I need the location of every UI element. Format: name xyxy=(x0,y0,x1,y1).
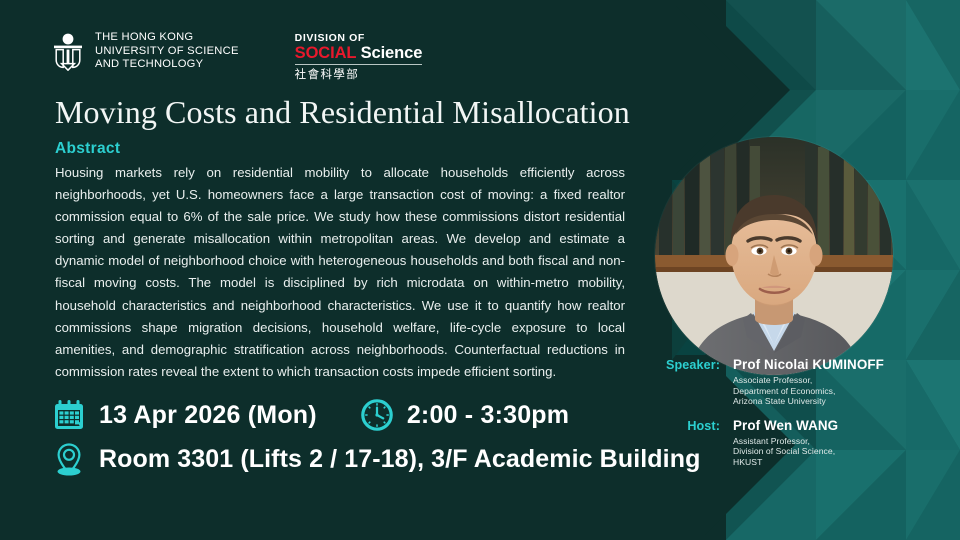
speaker-portrait-photo xyxy=(655,137,893,375)
division-social-word: SOCIAL xyxy=(295,44,356,62)
speaker-portrait xyxy=(655,137,893,375)
poster-header: THE HONG KONG UNIVERSITY OF SCIENCE AND … xyxy=(52,31,422,82)
host-info: Prof Wen WANG Assistant Professor, Divis… xyxy=(733,418,838,468)
host-affiliation: Assistant Professor, Division of Social … xyxy=(733,436,838,468)
division-science-word: Science xyxy=(356,44,422,62)
division-line1: DIVISION OF xyxy=(295,32,423,44)
location-pin-icon xyxy=(52,441,86,477)
date-item: 13 Apr 2026 (Mon) xyxy=(52,398,317,432)
host-entry: Host: Prof Wen WANG Assistant Professor,… xyxy=(648,418,948,468)
seminar-title: Moving Costs and Residential Misallocati… xyxy=(55,93,695,131)
speaker-affiliation: Associate Professor, Department of Econo… xyxy=(733,375,884,407)
hkust-shield-icon xyxy=(52,33,84,76)
hkust-logo: THE HONG KONG UNIVERSITY OF SCIENCE AND … xyxy=(52,31,239,76)
time-text: 2:00 - 3:30pm xyxy=(407,401,569,430)
division-line2: SOCIAL Science xyxy=(295,44,423,65)
host-name: Prof Wen WANG xyxy=(733,418,838,434)
venue-row: Room 3301 (Lifts 2 / 17-18), 3/F Academi… xyxy=(52,441,700,477)
speaker-name: Prof Nicolai KUMINOFF xyxy=(733,357,884,373)
time-item: 2:00 - 3:30pm xyxy=(360,398,569,432)
clock-icon xyxy=(360,398,394,432)
host-label: Host: xyxy=(648,418,720,433)
date-time-row: 13 Apr 2026 (Mon) xyxy=(52,398,569,432)
abstract-heading: Abstract xyxy=(55,140,120,158)
seminar-poster: THE HONG KONG UNIVERSITY OF SCIENCE AND … xyxy=(0,0,960,540)
speaker-info: Prof Nicolai KUMINOFF Associate Professo… xyxy=(733,357,884,407)
division-logo: DIVISION OF SOCIAL Science 社會科學部 xyxy=(295,31,423,82)
abstract-body: Housing markets rely on residential mobi… xyxy=(55,162,625,383)
speaker-entry: Speaker: Prof Nicolai KUMINOFF Associate… xyxy=(648,357,948,407)
venue-text: Room 3301 (Lifts 2 / 17-18), 3/F Academi… xyxy=(99,445,700,474)
division-chinese-name: 社會科學部 xyxy=(295,67,423,82)
hkust-logo-text: THE HONG KONG UNIVERSITY OF SCIENCE AND … xyxy=(95,31,239,72)
speaker-label: Speaker: xyxy=(648,357,720,372)
date-text: 13 Apr 2026 (Mon) xyxy=(99,401,317,430)
calendar-icon xyxy=(52,398,86,432)
people-block: Speaker: Prof Nicolai KUMINOFF Associate… xyxy=(648,357,948,468)
